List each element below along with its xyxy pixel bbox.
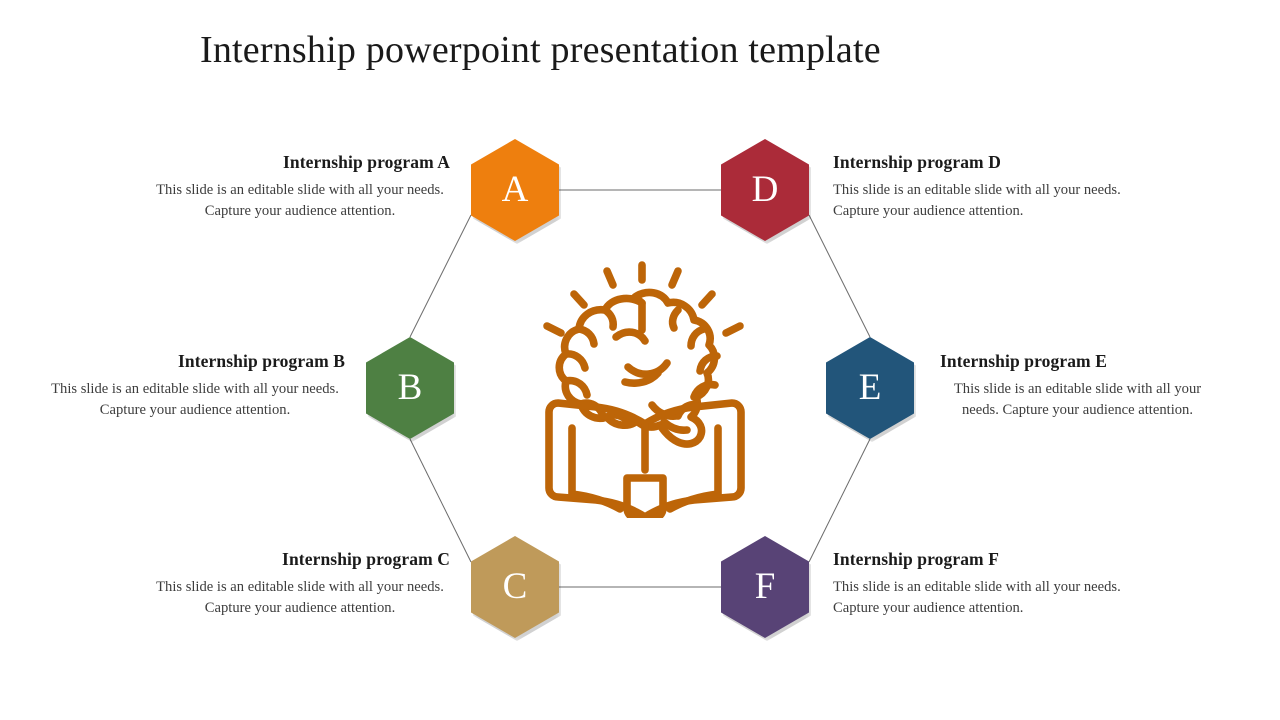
hexagon-c-letter: C xyxy=(503,568,528,605)
heading-f: Internship program F xyxy=(833,549,1153,570)
text-block-b: Internship program B This slide is an ed… xyxy=(45,351,345,420)
body-f: This slide is an editable slide with all… xyxy=(833,577,1153,618)
connector-a-b xyxy=(410,215,471,337)
text-block-d: Internship program D This slide is an ed… xyxy=(833,152,1153,221)
page-title: Internship powerpoint presentation templ… xyxy=(200,24,1080,76)
heading-c: Internship program C xyxy=(150,549,450,570)
body-e: This slide is an editable slide with all… xyxy=(940,379,1215,420)
connector-f-e xyxy=(809,439,870,562)
body-b: This slide is an editable slide with all… xyxy=(45,379,345,420)
text-block-c: Internship program C This slide is an ed… xyxy=(150,549,450,618)
heading-a: Internship program A xyxy=(150,152,450,173)
hexagon-f-letter: F xyxy=(755,568,776,605)
text-block-e: Internship program E This slide is an ed… xyxy=(940,351,1215,420)
slide-canvas: Internship powerpoint presentation templ… xyxy=(0,0,1280,720)
heading-d: Internship program D xyxy=(833,152,1153,173)
body-c: This slide is an editable slide with all… xyxy=(150,577,450,618)
brain-on-open-book-icon xyxy=(512,252,778,518)
connector-e-d xyxy=(809,215,870,337)
connector-b-c xyxy=(410,439,471,562)
heading-e: Internship program E xyxy=(940,351,1215,372)
body-a: This slide is an editable slide with all… xyxy=(150,180,450,221)
hexagon-d-letter: D xyxy=(752,171,779,208)
hexagon-b-letter: B xyxy=(398,369,423,406)
text-block-f: Internship program F This slide is an ed… xyxy=(833,549,1153,618)
text-block-a: Internship program A This slide is an ed… xyxy=(150,152,450,221)
hexagon-a-letter: A xyxy=(502,171,529,208)
hexagon-e-letter: E xyxy=(859,369,882,406)
heading-b: Internship program B xyxy=(45,351,345,372)
body-d: This slide is an editable slide with all… xyxy=(833,180,1153,221)
